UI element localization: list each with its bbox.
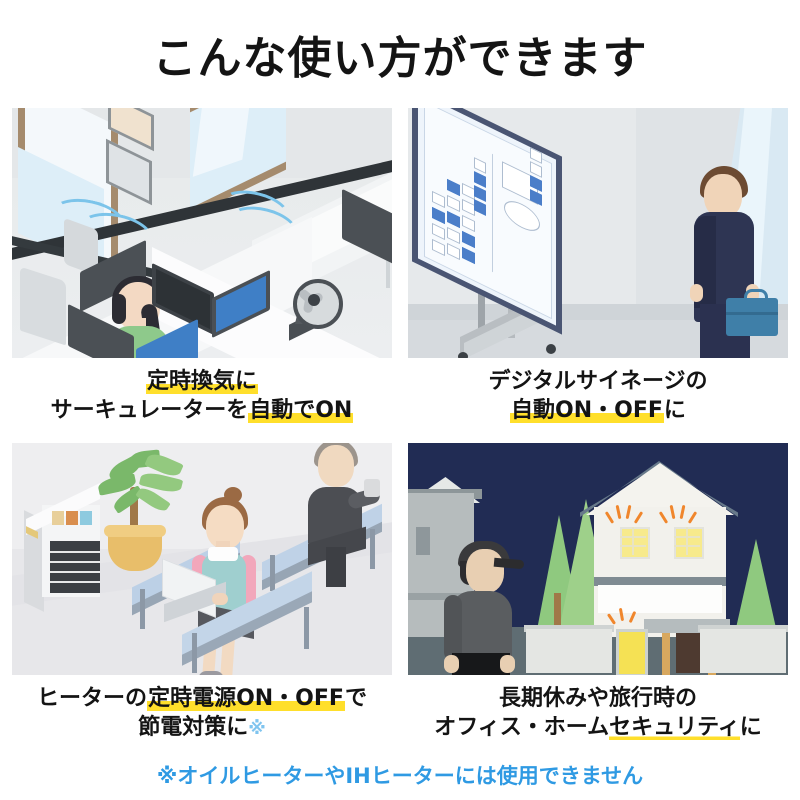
footnote: ※オイルヒーターやIHヒーターには使用できません (0, 760, 800, 790)
caption-highlight: 定時換気に (146, 369, 258, 394)
illustration-office-circulator (12, 108, 392, 358)
bench-leg (192, 633, 197, 673)
caption-underline: セキュリティ (609, 715, 740, 740)
person-arm (444, 595, 462, 661)
house-body (594, 507, 726, 637)
window-mullion (686, 527, 688, 555)
window-mullion (674, 545, 700, 547)
caption-highlight: 自動でON (248, 398, 353, 423)
person-hair-side (112, 294, 126, 324)
caption-text: に (740, 715, 762, 740)
illustration-night-house-security (408, 443, 788, 675)
window-mullion (620, 536, 646, 538)
heater-slat (50, 581, 100, 583)
caption-highlight: 定時電源ON・OFF (147, 686, 345, 711)
house-entrance-window-lit (616, 629, 648, 675)
panel-circulator: 定時換気に サーキュレーターを自動でON (12, 108, 392, 425)
person-hand (500, 655, 515, 673)
heater-grille (50, 541, 100, 593)
person-collar (208, 547, 238, 561)
panel-security: 長期休みや旅行時の オフィス・ホームセキュリティに (408, 443, 788, 742)
caption-highlight: 自動ON・OFF (510, 398, 664, 423)
person-hand (690, 284, 703, 302)
caption-text: デジタルサイネージの (488, 369, 707, 394)
heater-slat (50, 561, 100, 563)
window-mullion (674, 536, 700, 538)
heater-slat (50, 571, 100, 573)
heater-panel-b (66, 511, 78, 525)
illustration-digital-signage (408, 108, 788, 358)
panel-signage: デジタルサイネージの 自動ON・OFFに (408, 108, 788, 425)
illustration-waiting-area-heater (12, 443, 392, 675)
window-mullion (620, 545, 646, 547)
house-door (676, 633, 702, 673)
promo-page: こんな使い方ができます (0, 0, 800, 800)
panel-heater: ヒーターの定時電源ON・OFFで 節電対策に※ (12, 443, 392, 742)
bench-leg (370, 529, 375, 569)
caption-text: に (664, 398, 686, 423)
stand-wheel (546, 344, 556, 354)
fence-wall (700, 629, 786, 673)
briefcase-seam (726, 312, 778, 315)
window-mullion (632, 527, 634, 555)
bench-leg (270, 555, 275, 591)
caption-text: で (345, 686, 367, 711)
heater-panel-a (52, 511, 64, 525)
person-head (466, 549, 504, 593)
house-window-lit (620, 527, 650, 559)
stand-wheel (458, 352, 468, 358)
heater-panel-c (80, 511, 92, 525)
neighbor-window (416, 527, 430, 555)
caption-text: 節電対策に (138, 715, 248, 740)
person-hair-bun (224, 487, 242, 503)
person-hand (444, 655, 459, 673)
caption-heater: ヒーターの定時電源ON・OFFで 節電対策に※ (12, 685, 392, 742)
fan-hub (308, 294, 320, 306)
person-head (318, 445, 354, 487)
plant-pot-rim (104, 525, 166, 537)
cup (364, 479, 380, 497)
caption-text: オフィス・ホーム (434, 715, 609, 740)
caption-security: 長期休みや旅行時の オフィス・ホームセキュリティに (408, 685, 788, 742)
footnote-asterisk: ※ (248, 718, 266, 739)
caption-text: 長期休みや旅行時の (499, 686, 697, 711)
fence-wall (526, 629, 612, 673)
person-hand (212, 593, 228, 605)
bench-leg (140, 589, 145, 629)
caption-signage: デジタルサイネージの 自動ON・OFFに (408, 368, 788, 425)
person-shoe (198, 671, 224, 675)
page-title: こんな使い方ができます (0, 22, 800, 86)
house-window-lit (674, 527, 704, 559)
caption-circulator: 定時換気に サーキュレーターを自動でON (12, 368, 392, 425)
caption-text: サーキュレーターを (51, 398, 249, 423)
caption-text: ヒーターの (37, 686, 147, 711)
bench-leg (304, 607, 309, 649)
briefcase (726, 298, 778, 336)
house-pillar (662, 633, 670, 675)
person-shin (326, 547, 346, 587)
house-sign-board (598, 585, 722, 613)
signage-divider (492, 154, 493, 272)
heater-slat (50, 551, 100, 553)
